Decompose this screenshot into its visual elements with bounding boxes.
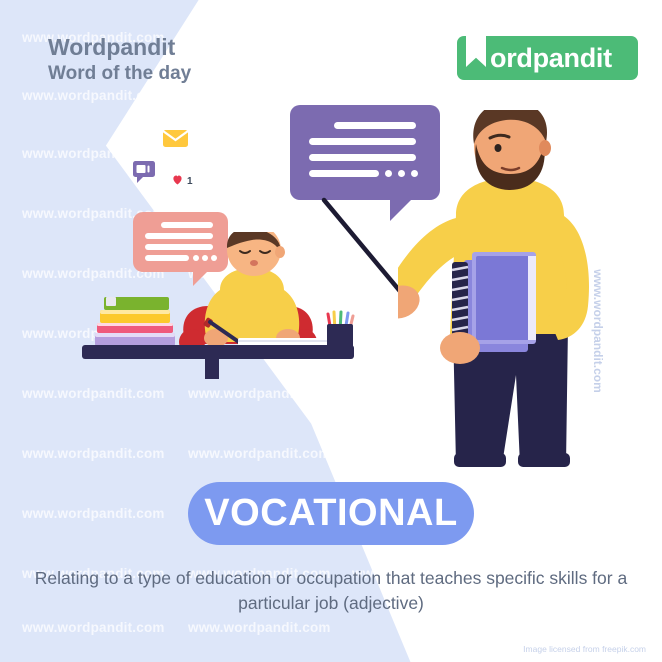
bubble-line [161,222,213,228]
bubble-line [145,255,189,261]
envelope-icon [163,130,188,147]
bubble-line [309,170,379,177]
word-of-the-day-card: www.wordpandit.com www.wordpandit.com ww… [0,0,662,662]
word-definition: Relating to a type of education or occup… [0,566,662,617]
logo-label: ordpandit [490,45,612,72]
chat-bubble-icon [133,161,155,183]
wordpandit-logo[interactable]: ordpandit [457,36,638,80]
teacher-figure [398,110,618,485]
word-term: VOCATIONAL [204,492,457,535]
pencil-cup [322,310,358,350]
bubble-dot [385,170,392,177]
book-yellow-page [100,310,170,314]
book-purple-page [95,333,175,337]
svg-text:1: 1 [187,176,193,187]
notebook-line [238,340,334,342]
page-subtitle: Word of the day [48,62,191,87]
book-pink-page [97,323,173,326]
word-banner: VOCATIONAL [188,482,474,545]
bookmark-icon [457,36,493,80]
book-green-page [106,297,116,306]
desk-leg [205,357,219,379]
header: Wordpandit Word of the day [48,34,191,87]
illustration: 1 [0,0,662,662]
image-credit: Image licensed from freepik.com [523,644,646,654]
heart-icon: 1 [168,172,199,193]
brand-title: Wordpandit [48,34,191,60]
